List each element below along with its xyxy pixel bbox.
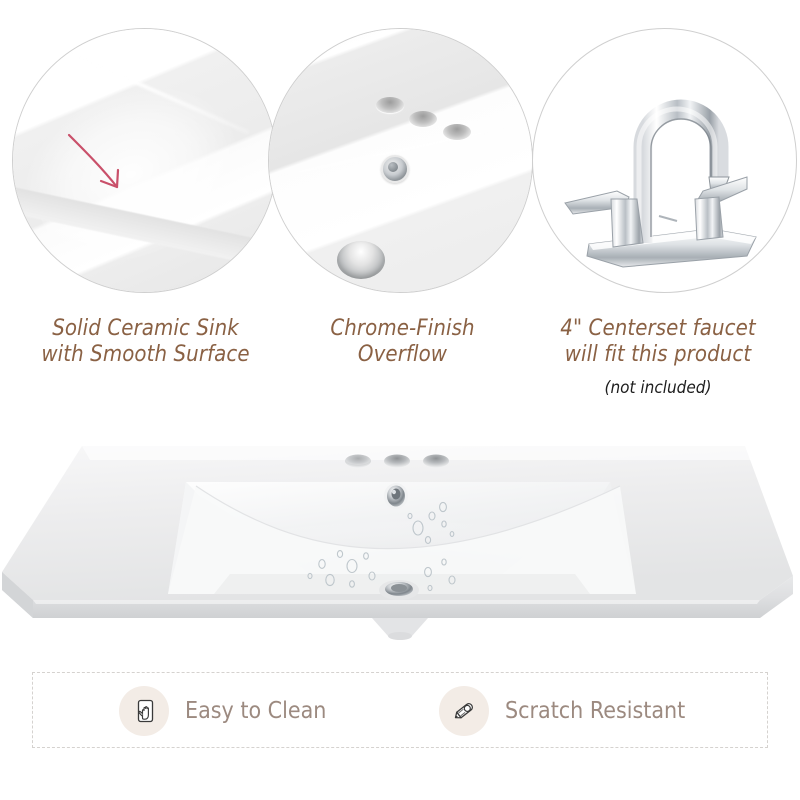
pencil-scratch-icon (439, 686, 489, 736)
ceramic-vanity-top-sink-icon (0, 424, 800, 652)
product-infographic: Solid Ceramic Sink with Smooth Surface C… (0, 0, 800, 800)
overflow-holes-closeup-icon (269, 29, 532, 292)
red-arrow-icon (65, 129, 155, 199)
faucet-not-included-note: (not included) (520, 378, 796, 399)
feature-label: Scratch Resistant (505, 698, 685, 724)
detail-circle-row (0, 20, 800, 295)
hand-wipe-icon (119, 686, 169, 736)
feature-label: Easy to Clean (185, 698, 326, 724)
chrome-overflow-hole (381, 155, 409, 183)
faucet-hole (423, 455, 449, 468)
feature-easy-to-clean: Easy to Clean (119, 686, 326, 736)
faucet-hole (384, 455, 410, 468)
caption-chrome-overflow: Chrome-Finish Overflow (290, 316, 515, 368)
chrome-faucet-icon (551, 51, 781, 276)
drain (379, 580, 419, 600)
feature-panel: Easy to Clean Scratch Resistant (32, 672, 768, 748)
faucet-hole (376, 97, 404, 113)
caption-solid-ceramic-sink: Solid Ceramic Sink with Smooth Surface (8, 316, 283, 368)
feature-scratch-resistant: Scratch Resistant (439, 686, 685, 736)
faucet-hole (443, 124, 471, 140)
caption-line: Solid Ceramic Sink (8, 316, 283, 342)
faucet-hole (409, 111, 437, 127)
detail-circle-chrome-overflow (268, 28, 533, 293)
chrome-overflow (384, 483, 408, 509)
detail-captions: Solid Ceramic Sink with Smooth Surface C… (0, 316, 800, 416)
hero-sink-image (0, 424, 800, 652)
caption-line: Overflow (290, 342, 515, 368)
caption-line: with Smooth Surface (8, 342, 283, 368)
caption-line: Chrome-Finish (290, 316, 515, 342)
caption-centerset-faucet: 4" Centerset faucet will fit this produc… (520, 316, 796, 368)
drain-hole (337, 241, 385, 279)
ceramic-surface-closeup-icon (13, 29, 276, 292)
detail-circle-solid-ceramic-sink (12, 28, 277, 293)
caption-line: will fit this product (520, 342, 796, 368)
caption-line: 4" Centerset faucet (520, 316, 796, 342)
detail-circle-centerset-faucet (532, 28, 797, 293)
